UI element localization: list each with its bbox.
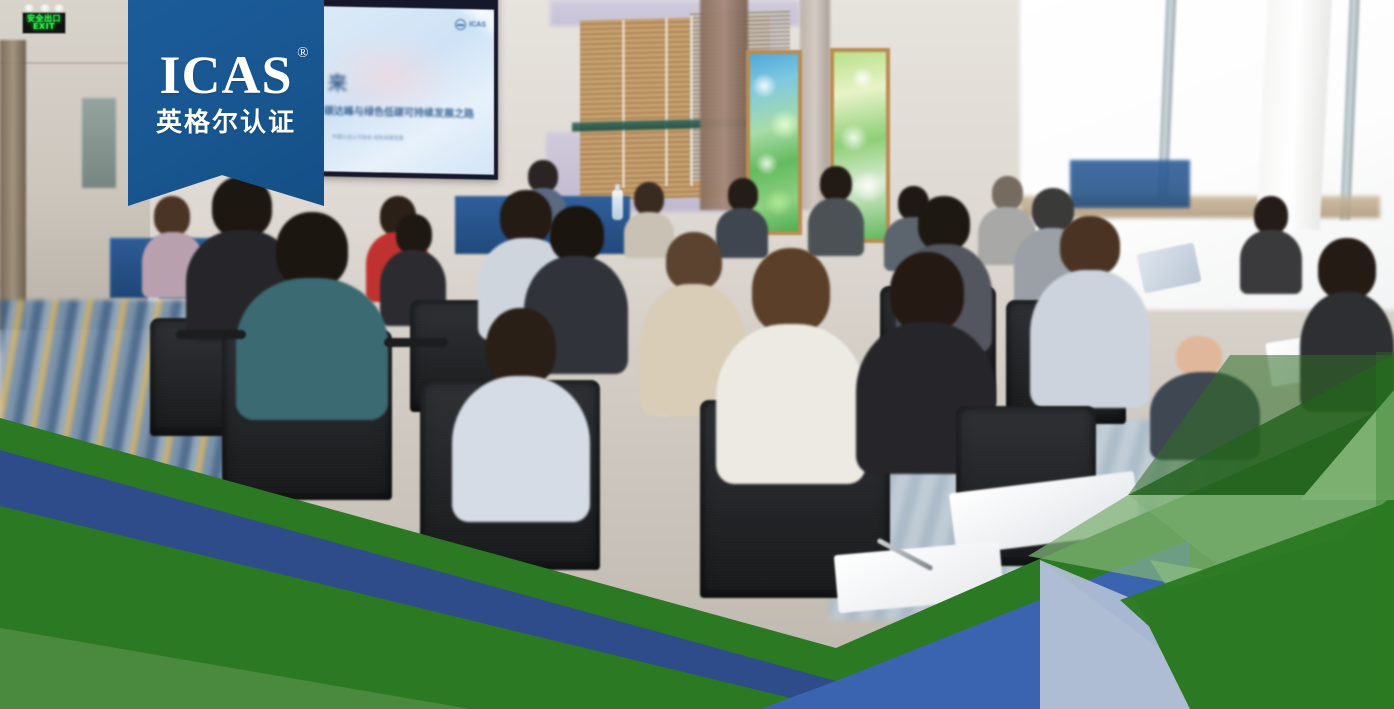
- poster-canvas: 安全出口 EXIT ICAS 来 碳达峰与绿色低碳可持续发展之路 中国认证认可协…: [0, 0, 1394, 709]
- conference-room-photo: 安全出口 EXIT ICAS 来 碳达峰与绿色低碳可持续发展之路 中国认证认可协…: [0, 0, 1394, 709]
- photo-soften: [0, 0, 1394, 709]
